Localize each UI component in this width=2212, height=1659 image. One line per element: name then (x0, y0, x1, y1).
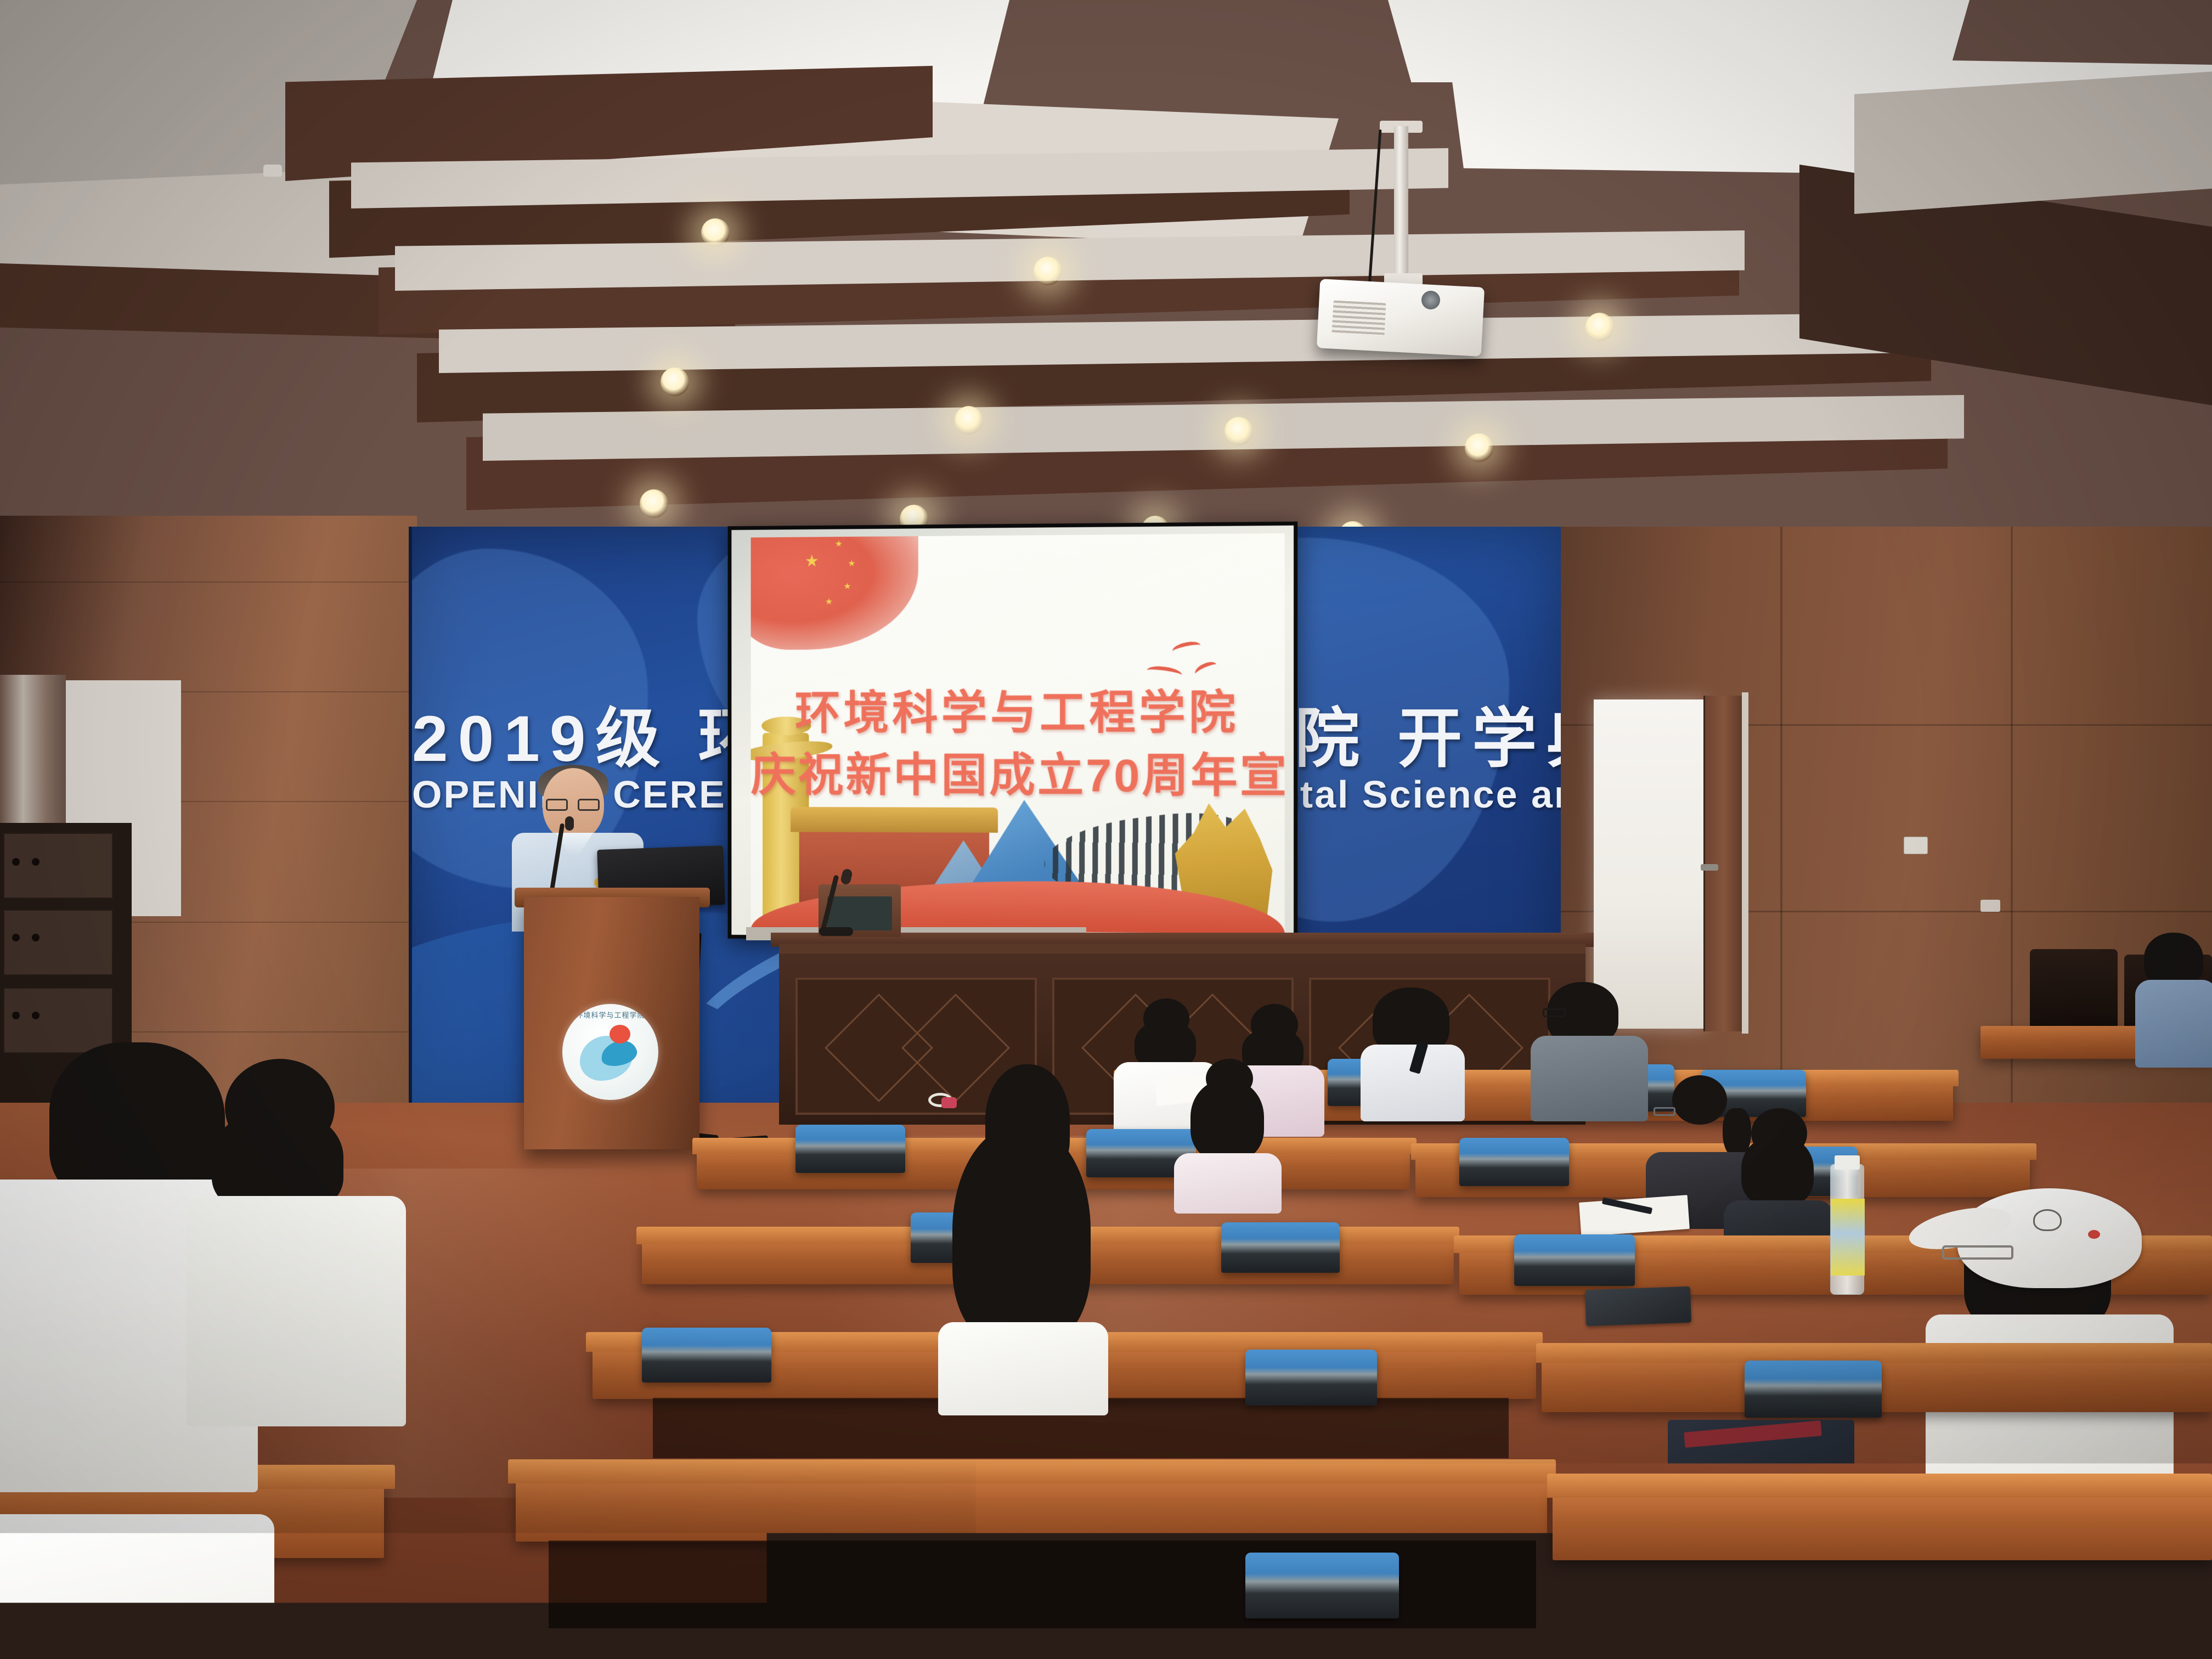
projector-pole (1394, 126, 1408, 291)
doorway-opening (1594, 699, 1706, 1029)
lecture-hall-scene: 2019级 环境科学与工程学院 开学典礼 OPENING CEREMONY Sc… (0, 0, 2212, 1659)
pencil-pouch[interactable] (1585, 1286, 1691, 1327)
chair[interactable] (1245, 1350, 1377, 1406)
door-frame (1742, 692, 1748, 1034)
glasses-icon (546, 799, 603, 811)
presentation-slide: ★ ★ ★ ★ ★ (751, 533, 1285, 934)
ceiling-projector (1314, 126, 1495, 362)
audience-person-foreground-bottom (0, 1481, 274, 1659)
desk-row-f (516, 1476, 1547, 1542)
cap-dot-icon (2088, 1230, 2100, 1239)
desk-row-f-right (1553, 1490, 2212, 1560)
glasses-icon (1942, 1245, 2013, 1260)
smoke-detector-icon (263, 165, 282, 177)
chair[interactable] (1221, 1222, 1340, 1273)
light-switch[interactable] (1904, 837, 1928, 854)
college-logo: 环境科学与工程学院 (562, 1004, 658, 1100)
chair[interactable] (1514, 1234, 1635, 1286)
door-leaf[interactable] (1703, 696, 1743, 1031)
ceiling (0, 0, 2212, 560)
chair[interactable] (1745, 1361, 1882, 1418)
wall-vent-icon (1980, 900, 2000, 912)
downlight-8 (640, 489, 668, 518)
projection-screen: ★ ★ ★ ★ ★ (731, 526, 1294, 939)
audience-person-2 (933, 1125, 1108, 1388)
earphone-case[interactable] (941, 1097, 957, 1108)
projection-screen-frame: ★ ★ ★ ★ ★ (728, 522, 1298, 944)
downlight-1 (701, 218, 730, 247)
back-leather-seat[interactable] (2030, 949, 2118, 1031)
keychain-charm (1728, 1503, 1760, 1546)
sun-icon (610, 1025, 630, 1043)
podium-microphone-head-icon (565, 816, 574, 831)
slide-title-line-2: 庆祝新中国成立70周年宣讲 (751, 738, 1285, 806)
audience-person-7 (1361, 988, 1465, 1114)
projector-cable (1368, 129, 1382, 294)
chair[interactable] (642, 1328, 771, 1383)
chinese-flag-graphic: ★ ★ ★ ★ ★ (751, 533, 918, 650)
desk-row-f-top (508, 1459, 1556, 1483)
presidium-chair-cushion (827, 896, 892, 930)
desk-row-f-right-top (1547, 1474, 2212, 1498)
downlight-4 (661, 368, 689, 396)
chair[interactable] (795, 1125, 905, 1173)
rack-unit (3, 833, 113, 899)
bottle-cap[interactable] (1835, 1155, 1860, 1170)
audience-person-12 (2140, 933, 2212, 1075)
water-bottle[interactable] (1830, 1164, 1864, 1295)
slide-title-line-1: 环境科学与工程学院 (751, 675, 1285, 742)
microphone-base (819, 927, 853, 936)
downlight-7 (1465, 433, 1493, 462)
door-handle-icon[interactable] (1701, 864, 1718, 871)
downlight-2 (1034, 257, 1062, 285)
chair[interactable] (1245, 1553, 1399, 1618)
glasses-icon (1543, 1008, 1566, 1017)
projector-vent-icon (1331, 301, 1386, 336)
chair[interactable] (1459, 1138, 1569, 1186)
glasses-icon (1654, 1107, 1675, 1116)
downlight-6 (1224, 417, 1253, 445)
audience-person-4 (1174, 1059, 1278, 1196)
rack-unit (3, 910, 113, 975)
audience-person-2b (159, 1059, 390, 1443)
audience-person-8 (1531, 982, 1646, 1119)
desk-row-e-right-top (1536, 1343, 2212, 1363)
ceiling-plane-right (1854, 71, 2212, 214)
bottle-label (1831, 1199, 1865, 1276)
downlight-3 (1585, 313, 1614, 341)
chair[interactable] (1690, 1569, 1849, 1637)
downlight-5 (955, 406, 983, 435)
bee-logo-icon (2033, 1209, 2062, 1231)
college-logo-text: 环境科学与工程学院 (562, 1009, 658, 1020)
